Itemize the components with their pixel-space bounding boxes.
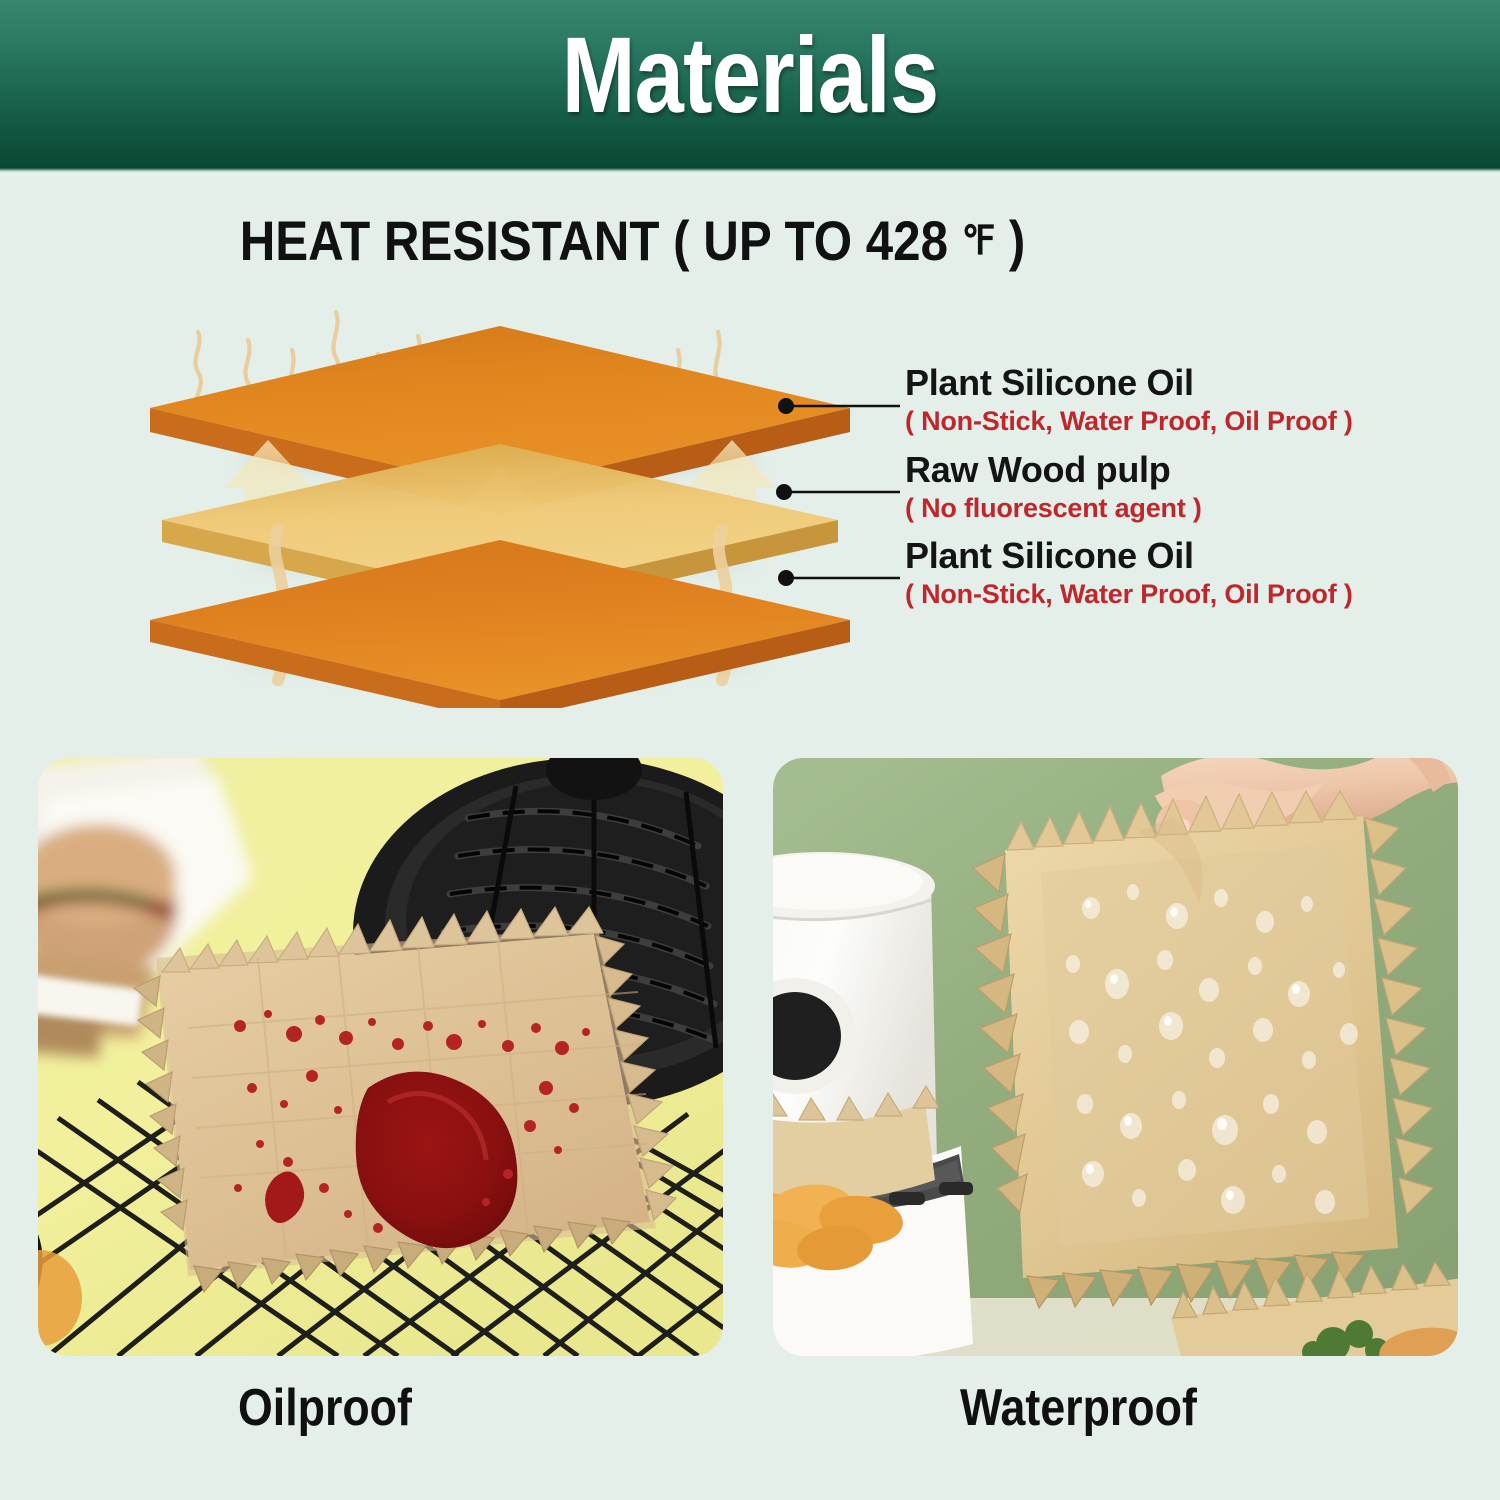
callout-title-top: Plant Silicone Oil — [905, 365, 1353, 401]
parchment-liner-with-sauce — [134, 907, 676, 1292]
held-liner — [973, 791, 1433, 1308]
photo-oilproof — [38, 758, 723, 1356]
caption-oilproof: Oilproof — [238, 1378, 412, 1438]
caption-waterproof: Waterproof — [960, 1378, 1197, 1438]
photo-waterproof — [773, 758, 1458, 1356]
header-divider-strip — [0, 168, 1500, 178]
callout-layer-top: Plant Silicone Oil ( Non-Stick, Water Pr… — [905, 365, 1353, 435]
callout-layer-middle: Raw Wood pulp ( No fluorescent agent ) — [905, 452, 1202, 522]
callout-note-bottom: ( Non-Stick, Water Proof, Oil Proof ) — [905, 581, 1353, 608]
callout-title-bottom: Plant Silicone Oil — [905, 538, 1353, 574]
heat-resistant-suffix: ) — [995, 209, 1025, 272]
page-title: Materials — [135, 18, 1365, 131]
callout-note-top: ( Non-Stick, Water Proof, Oil Proof ) — [905, 408, 1353, 435]
heat-resistant-heading: HEAT RESISTANT ( UP TO 428 ℉ ) — [76, 208, 1189, 273]
header-banner: Materials — [0, 0, 1500, 168]
heat-resistant-prefix: HEAT RESISTANT ( UP TO 428 — [240, 209, 962, 272]
layer-bottom-silicone — [150, 540, 850, 708]
callout-title-middle: Raw Wood pulp — [905, 452, 1202, 488]
callout-layer-bottom: Plant Silicone Oil ( Non-Stick, Water Pr… — [905, 538, 1353, 608]
fahrenheit-symbol: ℉ — [962, 218, 996, 263]
layer-diagram — [150, 288, 910, 708]
callout-note-middle: ( No fluorescent agent ) — [905, 495, 1202, 522]
